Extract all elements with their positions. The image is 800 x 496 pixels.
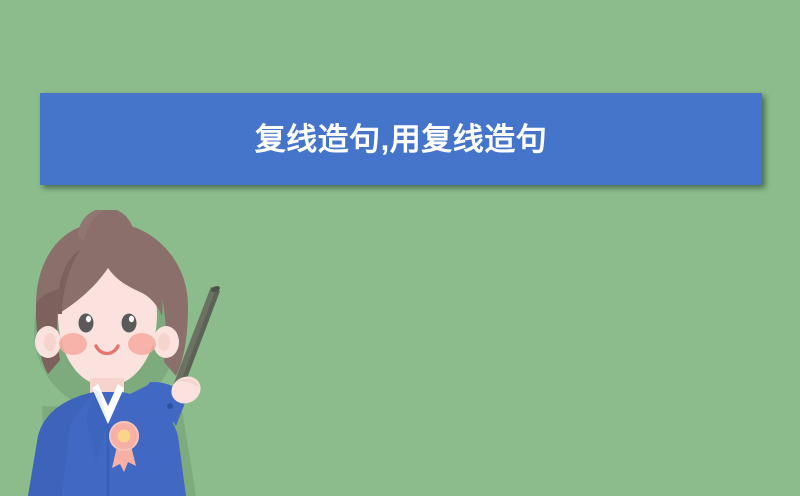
ribbon-badge <box>109 421 139 472</box>
left-cheek <box>59 333 87 355</box>
right-ear <box>153 326 179 358</box>
left-eye <box>79 314 94 333</box>
left-ear <box>35 326 61 358</box>
page-title: 复线造句,用复线造句 <box>255 124 548 155</box>
hair-bun <box>78 210 134 264</box>
right-cheek <box>128 333 156 355</box>
poster-canvas: 复线造句,用复线造句 <box>0 0 800 496</box>
teacher-illustration <box>0 210 260 496</box>
title-banner: 复线造句,用复线造句 <box>40 93 762 185</box>
right-eye <box>122 314 137 333</box>
